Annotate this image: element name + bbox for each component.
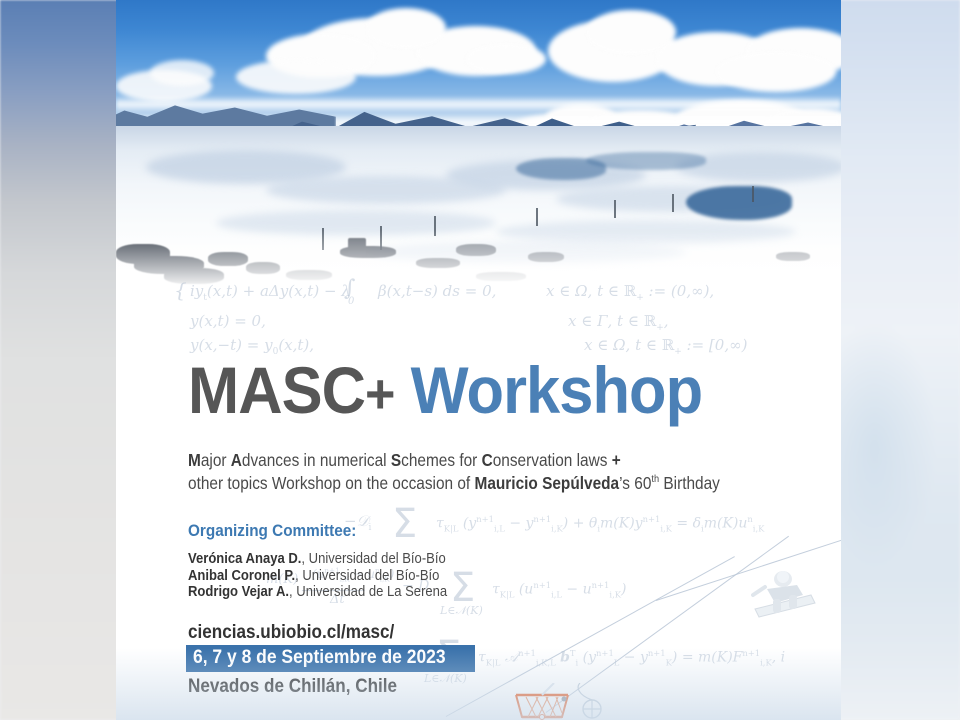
honoree-name: Mauricio Sepúlveda [474,473,619,493]
workshop-poster: { iyt(x,t) + aΔy(x,t) − λ ∫ 0 β(x,t−s) d… [116,0,841,720]
poster-title: MASC+ Workshop [188,357,702,423]
list-item: Rodrigo Vejar A., Universidad de La Sere… [188,584,447,601]
member-name: Anibal Coronel P. [188,568,295,584]
letterbox-right [838,0,960,720]
member-affiliation: , Universidad del Bío-Bío [295,568,439,584]
birthday-word: Birthday [659,473,720,493]
subtitle-line-2: other topics Workshop on the occasion of… [188,473,720,494]
member-affiliation: , Universidad de La Serena [289,584,447,600]
letterbox-left [0,0,120,720]
list-item: Verónica Anaya D., Universidad del Bío-B… [188,551,447,568]
website-url[interactable]: ciencias.ubiobio.cl/masc/ [188,622,394,644]
committee-list: Verónica Anaya D., Universidad del Bío-B… [188,551,447,601]
member-affiliation: , Universidad del Bío-Bío [301,551,445,567]
screenshot-canvas: { iyt(x,t) + aΔy(x,t) − λ ∫ 0 β(x,t−s) d… [0,0,960,720]
mountain-photo [116,0,841,300]
member-name: Rodrigo Vejar A. [188,584,289,600]
committee-heading: Organizing Committee: [188,521,356,541]
title-masc: MASC [188,353,365,427]
title-workshop: Workshop [411,353,703,427]
subtitle-prefix: other topics Workshop on the occasion of [188,473,474,493]
subtitle-line-1: Major Advances in numerical Schemes for … [188,450,621,471]
bottom-haze [116,648,841,720]
title-plus: + [365,362,394,425]
possessive-age: ’s 60 [619,473,651,493]
list-item: Anibal Coronel P., Universidad del Bío-B… [188,568,447,585]
snowboarder-silhouette [737,565,823,627]
member-name: Verónica Anaya D. [188,551,301,567]
